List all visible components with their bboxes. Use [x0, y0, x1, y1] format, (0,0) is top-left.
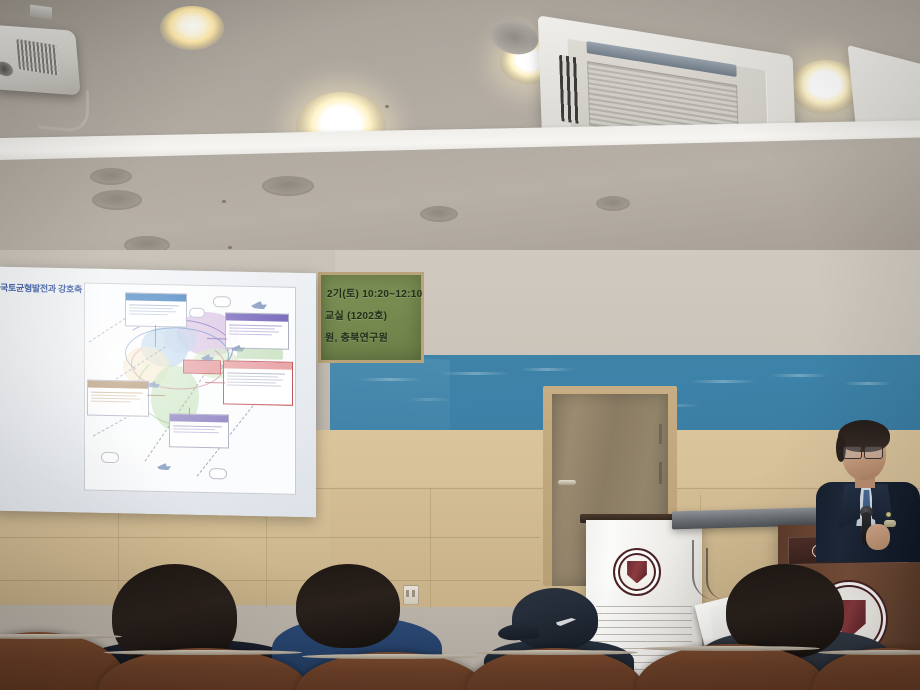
callout-line — [129, 307, 173, 309]
chair-trim-mid — [472, 650, 638, 655]
presenter-wristwatch — [884, 520, 896, 527]
door-hinge-upper — [659, 424, 662, 444]
recessed-light-5 — [420, 206, 458, 222]
wainscot-joint-3 — [430, 488, 431, 608]
wall-reflection-5 — [770, 374, 828, 377]
callout-leader-north — [155, 325, 156, 347]
wall-reflection-2 — [440, 372, 510, 375]
presenter-hand — [866, 524, 890, 550]
callout-line — [229, 324, 282, 327]
callout-leader-south — [189, 408, 190, 416]
ceiling-sensor-2 — [228, 246, 232, 249]
callout-east-body — [226, 320, 288, 339]
projector-arm — [38, 85, 89, 133]
callout-south — [169, 413, 229, 448]
callout-right — [223, 360, 293, 405]
projector-lens-icon — [0, 60, 14, 77]
chair-trim-far-left — [0, 634, 122, 639]
outlet-slot-right — [412, 590, 415, 597]
chair-trim-right — [642, 646, 820, 651]
callout-center — [183, 360, 221, 375]
wainscot-seam-3 — [0, 580, 540, 581]
wall-reflection-4 — [690, 380, 756, 383]
attendee-cap-hat — [512, 588, 598, 650]
callout-north — [125, 292, 187, 327]
glasses-lens-right-icon — [864, 446, 883, 459]
presenter-lapel-pin — [886, 512, 891, 517]
seal-shield-icon — [627, 561, 647, 584]
callout-line — [227, 381, 276, 383]
callout-line — [227, 375, 278, 377]
callout-line — [227, 378, 283, 381]
map-note-green — [237, 349, 283, 360]
callout-north-body — [126, 300, 186, 319]
callout-line — [229, 333, 272, 335]
callout-line — [227, 372, 285, 375]
callout-east — [225, 312, 289, 349]
chair-trim-mid-left — [302, 654, 480, 659]
callout-line — [91, 400, 131, 402]
door-handle[interactable] — [558, 480, 576, 485]
wall-reflection-8 — [408, 398, 450, 401]
callout-line — [227, 384, 281, 387]
callout-south-body — [170, 421, 228, 437]
recessed-light-6 — [596, 196, 630, 211]
callout-line — [91, 394, 137, 396]
callout-center-header — [184, 361, 220, 374]
wall-reflection-1 — [360, 378, 420, 381]
chair-trim-left — [104, 650, 302, 655]
greenboard-line-3: 원, 충북연구원 — [325, 329, 388, 344]
recessed-light-2 — [92, 190, 142, 210]
callout-line — [129, 304, 179, 306]
slide-map — [84, 282, 296, 494]
projection-screen-shell: 국토균형발전과 강호축 구상 — [0, 267, 322, 524]
recessed-light-1 — [90, 168, 132, 185]
map-node-tag-1 — [213, 296, 231, 307]
callout-west-body — [88, 388, 148, 407]
green-chalkboard: 2기(토) 10:20~12:10 교실 (1202호) 원, 충북연구원 — [318, 272, 424, 363]
ceiling-sensor-1 — [222, 200, 226, 203]
outlet-slot-left — [406, 590, 409, 597]
projector-vent — [16, 39, 59, 76]
lectern-university-seal — [613, 548, 661, 596]
greenboard-line-2: 교실 (1202호) — [325, 307, 387, 322]
callout-line — [91, 397, 140, 399]
callout-line — [129, 310, 176, 312]
glasses-lens-left-icon — [843, 446, 862, 459]
ac-louver-left — [559, 55, 579, 124]
callout-line — [173, 428, 215, 430]
callout-line — [229, 327, 275, 329]
callout-right-body — [224, 368, 292, 390]
wall-reflection-3 — [520, 368, 574, 371]
callout-line — [91, 391, 143, 393]
callout-line — [173, 425, 222, 427]
attendee-mid-left — [296, 564, 400, 648]
callout-line — [229, 330, 279, 332]
lecture-hall-scene: 2기(토) 10:20~12:10 교실 (1202호) 원, 충북연구원 국토… — [0, 0, 920, 690]
presenter — [812, 420, 920, 540]
door-hinge-lower — [659, 462, 662, 484]
recessed-light-4 — [262, 176, 314, 196]
map-node-tag-3 — [101, 452, 119, 463]
map-node-tag-2 — [189, 308, 205, 318]
projection-screen[interactable]: 국토균형발전과 강호축 구상 — [0, 267, 316, 518]
glasses-bridge-icon — [860, 450, 865, 452]
map-node-tag-4 — [209, 468, 227, 479]
callout-line — [173, 431, 219, 433]
callout-line — [129, 313, 168, 315]
ceiling-fixture-dot-1 — [385, 105, 389, 108]
wainscot-seam-2 — [0, 537, 540, 538]
airport-icon-1 — [251, 301, 267, 309]
callout-west — [87, 380, 149, 417]
greenboard-line-1: 2기(토) 10:20~12:10 — [327, 285, 423, 300]
wall-reflection-6 — [844, 382, 892, 385]
airport-icon-5 — [157, 463, 171, 470]
ceiling-downlight-3 — [160, 6, 224, 50]
